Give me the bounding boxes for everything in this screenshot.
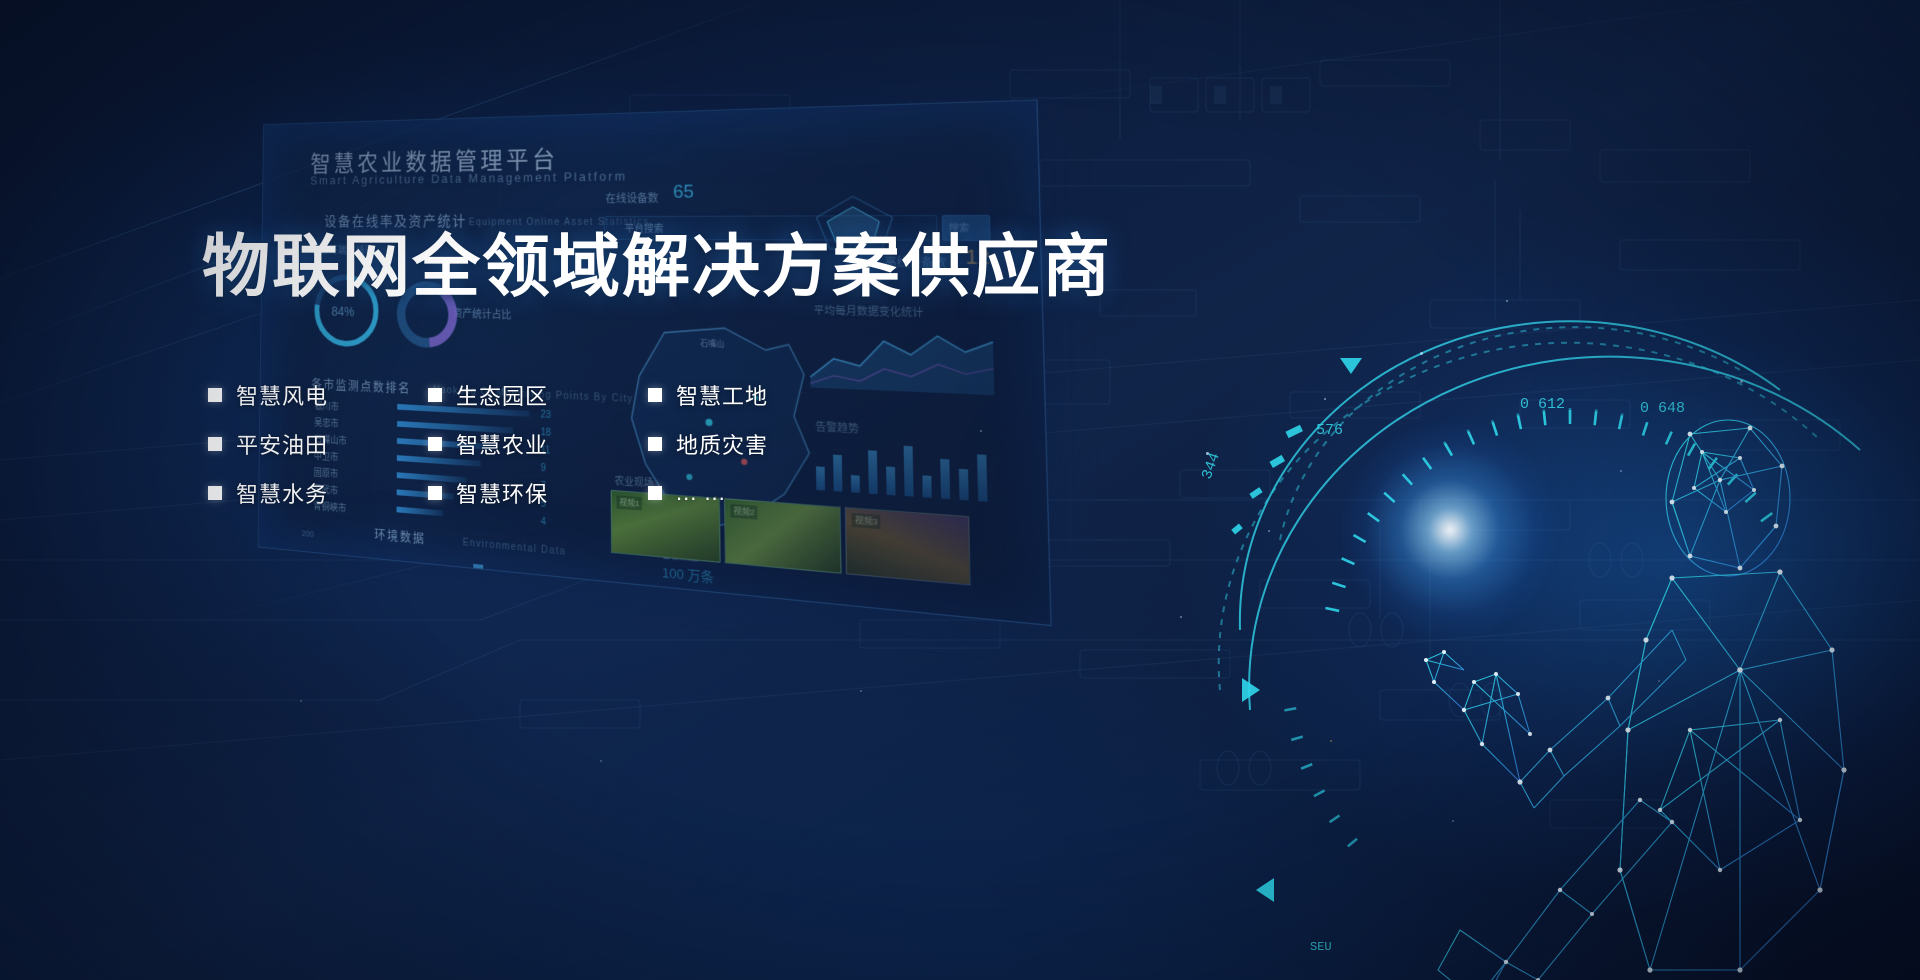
solution-label: 智慧工地 — [676, 379, 768, 411]
solution-item[interactable]: 智慧工地 — [648, 370, 888, 419]
solution-label: 地质灾害 — [676, 428, 768, 460]
solution-item[interactable]: 智慧环保 — [428, 468, 648, 517]
bullet-square-icon — [648, 437, 662, 451]
solutions-list: 智慧风电 生态园区 智慧工地 平安油田 智慧农业 地质灾害 智慧水务 智慧 — [208, 370, 888, 517]
solution-label: ... ... — [676, 480, 726, 506]
solution-label: 智慧农业 — [456, 428, 548, 460]
hero-banner: 智慧农业数据管理平台 Smart Agriculture Data Manage… — [0, 0, 1920, 980]
solution-item[interactable]: ... ... — [648, 468, 888, 517]
solution-item[interactable]: 智慧水务 — [208, 468, 428, 517]
solution-label: 生态园区 — [456, 379, 548, 411]
solution-label: 智慧环保 — [456, 477, 548, 509]
solution-item[interactable]: 平安油田 — [208, 419, 428, 468]
bullet-square-icon — [208, 486, 222, 500]
bullet-square-icon — [208, 388, 222, 402]
solution-label: 平安油田 — [236, 428, 328, 460]
bullet-square-icon — [648, 388, 662, 402]
bullet-square-icon — [428, 486, 442, 500]
bullet-square-icon — [208, 437, 222, 451]
solution-label: 智慧风电 — [236, 379, 328, 411]
solution-item[interactable]: 智慧农业 — [428, 419, 648, 468]
solution-item[interactable]: 智慧风电 — [208, 370, 428, 419]
solution-label: 智慧水务 — [236, 477, 328, 509]
solution-item[interactable]: 生态园区 — [428, 370, 648, 419]
bullet-square-icon — [428, 437, 442, 451]
solution-item[interactable]: 地质灾害 — [648, 419, 888, 468]
bullet-square-icon — [648, 486, 662, 500]
bullet-square-icon — [428, 388, 442, 402]
page-title: 物联网全领域解决方案供应商 — [202, 233, 1112, 301]
